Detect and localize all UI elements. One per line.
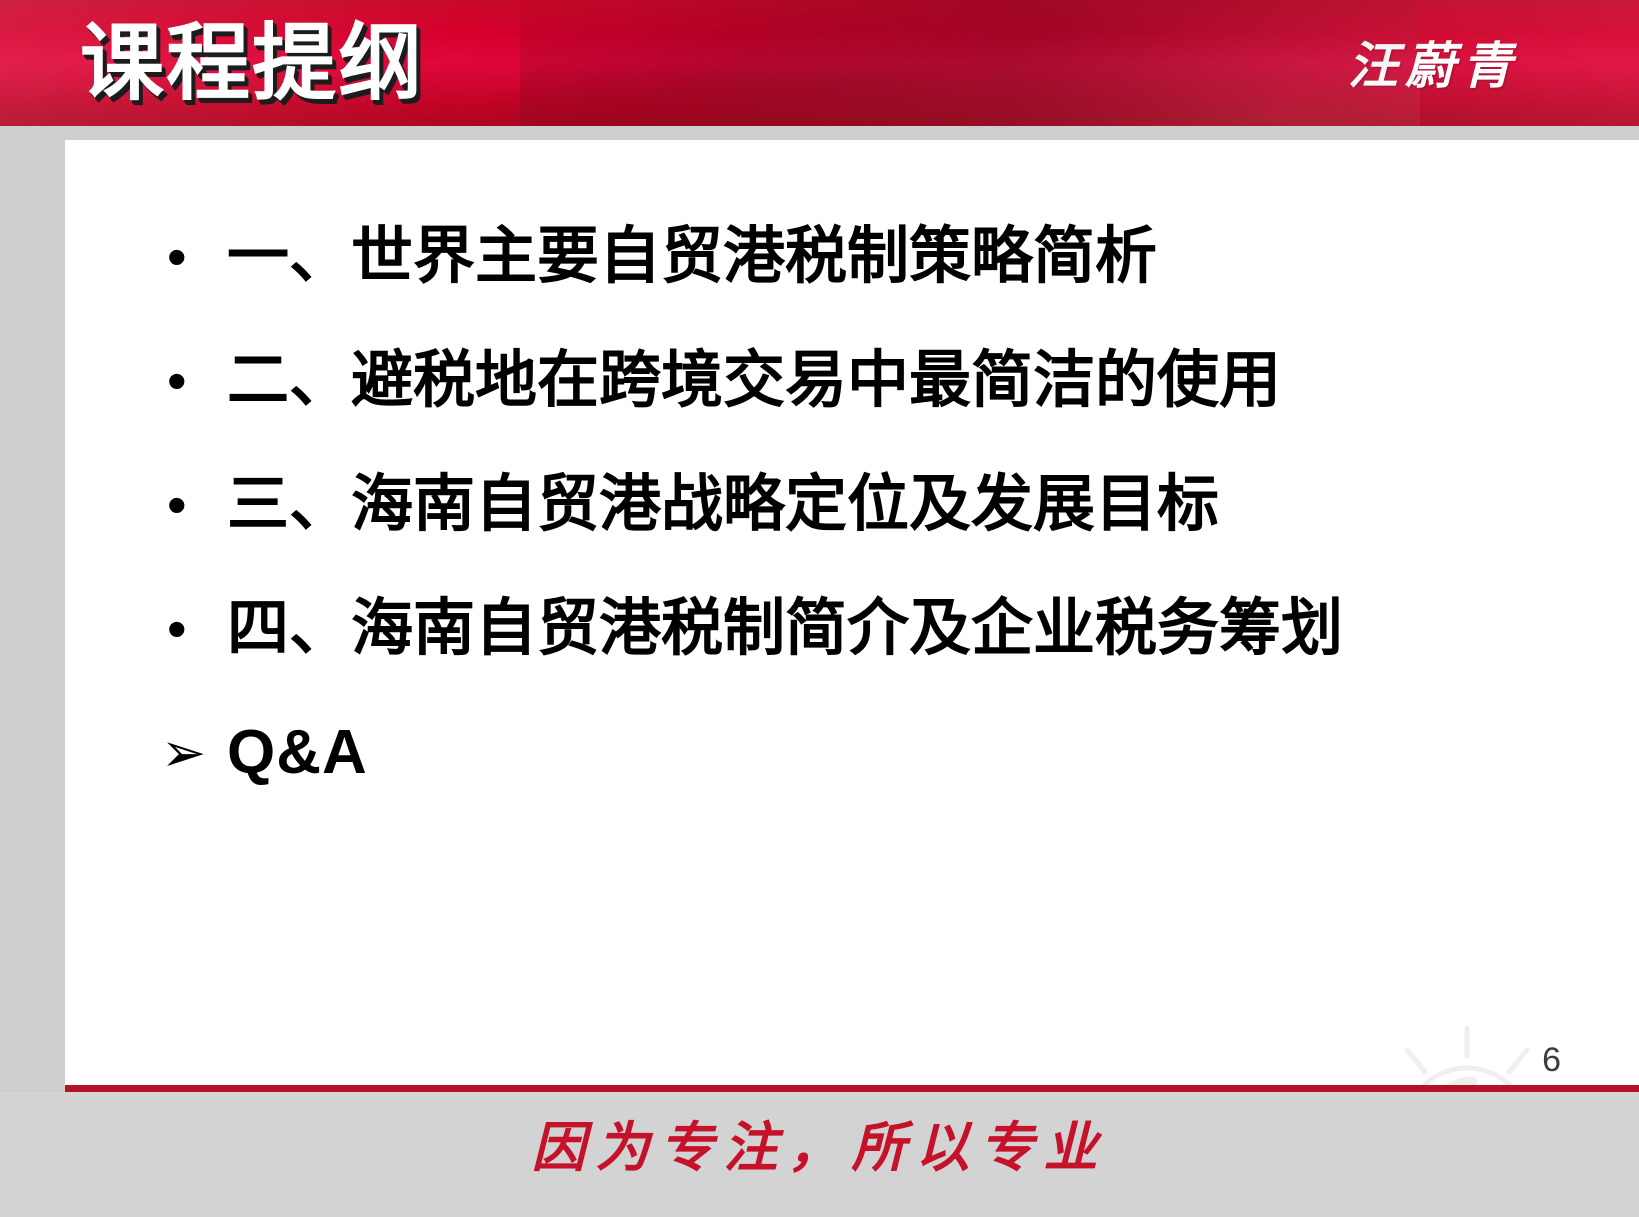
arrowhead-bullet-icon: ➢ <box>155 696 227 810</box>
disc-bullet-icon: • <box>155 448 227 562</box>
list-item-label: 二、避税地在跨境交易中最简洁的使用 <box>227 324 1281 438</box>
footer-divider <box>65 1085 1639 1092</box>
list-item-label: 三、海南自贸港战略定位及发展目标 <box>227 448 1219 562</box>
slide-header-banner: 课程提纲 汪蔚青 <box>0 0 1639 126</box>
list-item[interactable]: • 四、海南自贸港税制简介及企业税务筹划 <box>155 572 1575 686</box>
list-item-label: 一、世界主要自贸港税制策略简析 <box>227 200 1157 314</box>
footer-slogan: 因为专注，所以专业 <box>0 1103 1639 1182</box>
page-title: 课程提纲 <box>80 8 424 118</box>
list-item[interactable]: • 三、海南自贸港战略定位及发展目标 <box>155 448 1575 562</box>
slide-canvas: 课程提纲 汪蔚青 • 一、世界主要自贸港税制策略简析 • 二、避税地在跨境交易中… <box>0 0 1639 1217</box>
page-number: 6 <box>1542 1043 1561 1077</box>
list-item[interactable]: • 二、避税地在跨境交易中最简洁的使用 <box>155 324 1575 438</box>
list-item-label: 四、海南自贸港税制简介及企业税务筹划 <box>227 572 1343 686</box>
disc-bullet-icon: • <box>155 200 227 314</box>
disc-bullet-icon: • <box>155 572 227 686</box>
author-name: 汪蔚青 <box>1348 26 1519 98</box>
outline-list: • 一、世界主要自贸港税制策略简析 • 二、避税地在跨境交易中最简洁的使用 • … <box>155 200 1575 820</box>
list-item[interactable]: ➢ Q&A <box>155 696 1575 810</box>
content-card: • 一、世界主要自贸港税制策略简析 • 二、避税地在跨境交易中最简洁的使用 • … <box>65 140 1639 1092</box>
list-item-label: Q&A <box>227 696 368 810</box>
disc-bullet-icon: • <box>155 324 227 438</box>
list-item[interactable]: • 一、世界主要自贸港税制策略简析 <box>155 200 1575 314</box>
